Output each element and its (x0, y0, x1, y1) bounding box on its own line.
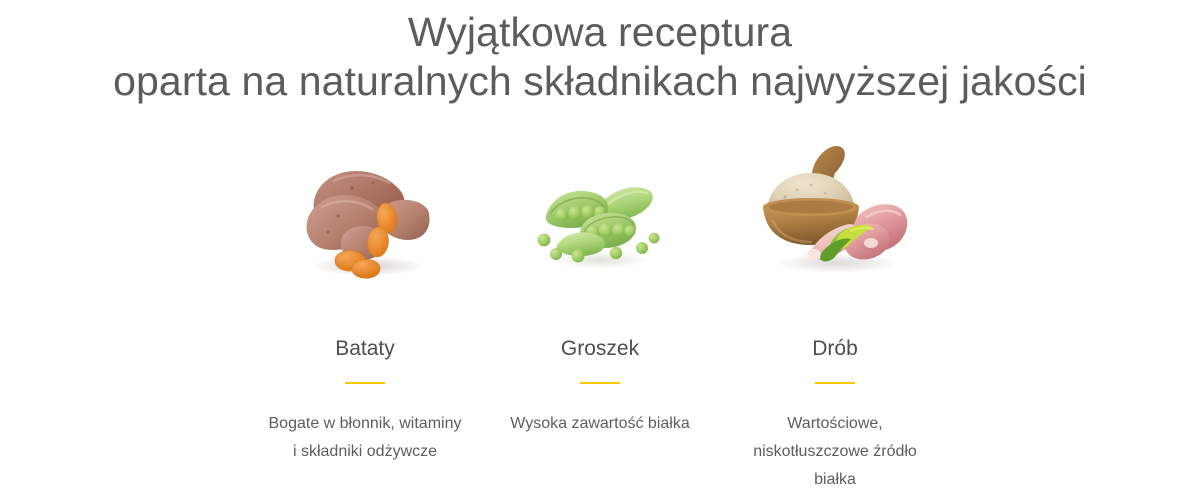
green-peas-image (500, 130, 700, 280)
sweet-potato-image (265, 130, 465, 280)
ingredient-description: Bogate w błonnik, witaminy i składniki o… (265, 410, 465, 466)
ingredient-divider (815, 382, 855, 384)
ingredient-title: Bataty (335, 336, 395, 362)
ingredient-title: Groszek (561, 336, 639, 362)
ingredient-divider (580, 382, 620, 384)
ingredient-title: Drób (812, 336, 858, 362)
page-title-line-2: oparta na naturalnych składnikach najwyż… (0, 57, 1200, 106)
poultry-image (735, 130, 935, 280)
ingredient-card-bataty: Bataty Bogate w błonnik, witaminy i skła… (248, 130, 483, 466)
page-title: Wyjątkowa receptura oparta na naturalnyc… (0, 0, 1200, 106)
ingredient-description: Wartościowe, niskotłuszczowe źródło biał… (735, 410, 935, 494)
ingredient-card-drob: Drób Wartościowe, niskotłuszczowe źródło… (718, 130, 953, 494)
ingredient-card-groszek: Groszek Wysoka zawartość białka (483, 130, 718, 438)
ingredient-divider (345, 382, 385, 384)
page-title-line-1: Wyjątkowa receptura (0, 8, 1200, 57)
ingredient-description: Wysoka zawartość białka (510, 410, 689, 438)
ingredients-row: Bataty Bogate w błonnik, witaminy i skła… (0, 130, 1200, 494)
